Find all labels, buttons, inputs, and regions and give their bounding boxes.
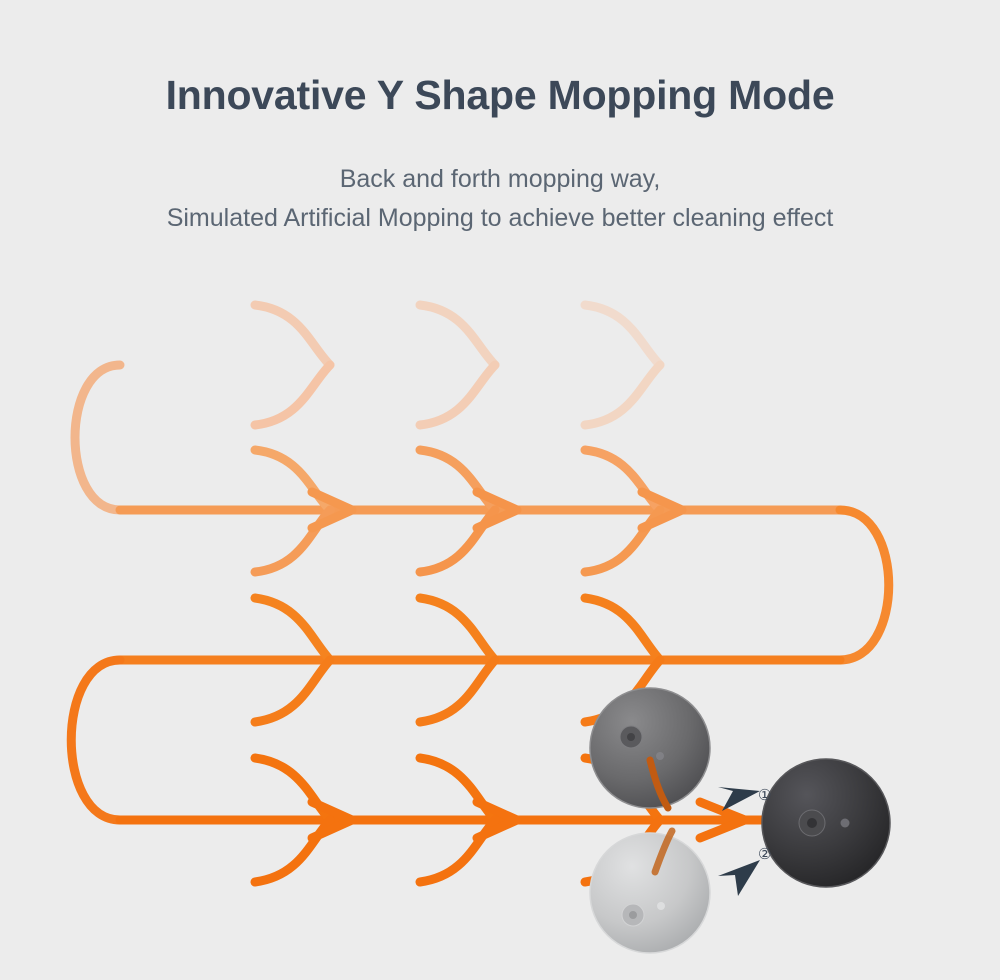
callout-arrow-2 [718,860,760,896]
robot-upper [590,688,710,808]
callout-arrow-1 [718,787,760,811]
subtitle-line-2: Simulated Artificial Mopping to achieve … [0,199,1000,238]
y-shape-mopping-diagram [0,260,1000,975]
path-row-3 [71,598,840,820]
subtitle-line-1: Back and forth mopping way, [340,165,661,193]
product-infographic: Innovative Y Shape Mopping Mode Back and… [0,0,1000,975]
path-row-1 [75,305,830,510]
page-subtitle: Back and forth mopping way, Simulated Ar… [0,160,1000,238]
callout-number-1: ① [758,786,771,804]
callout-number-2: ② [758,845,771,863]
robot-main [762,759,890,887]
page-title: Innovative Y Shape Mopping Mode [0,72,1000,119]
robot-lower [590,831,710,953]
path-row-2 [120,450,889,660]
